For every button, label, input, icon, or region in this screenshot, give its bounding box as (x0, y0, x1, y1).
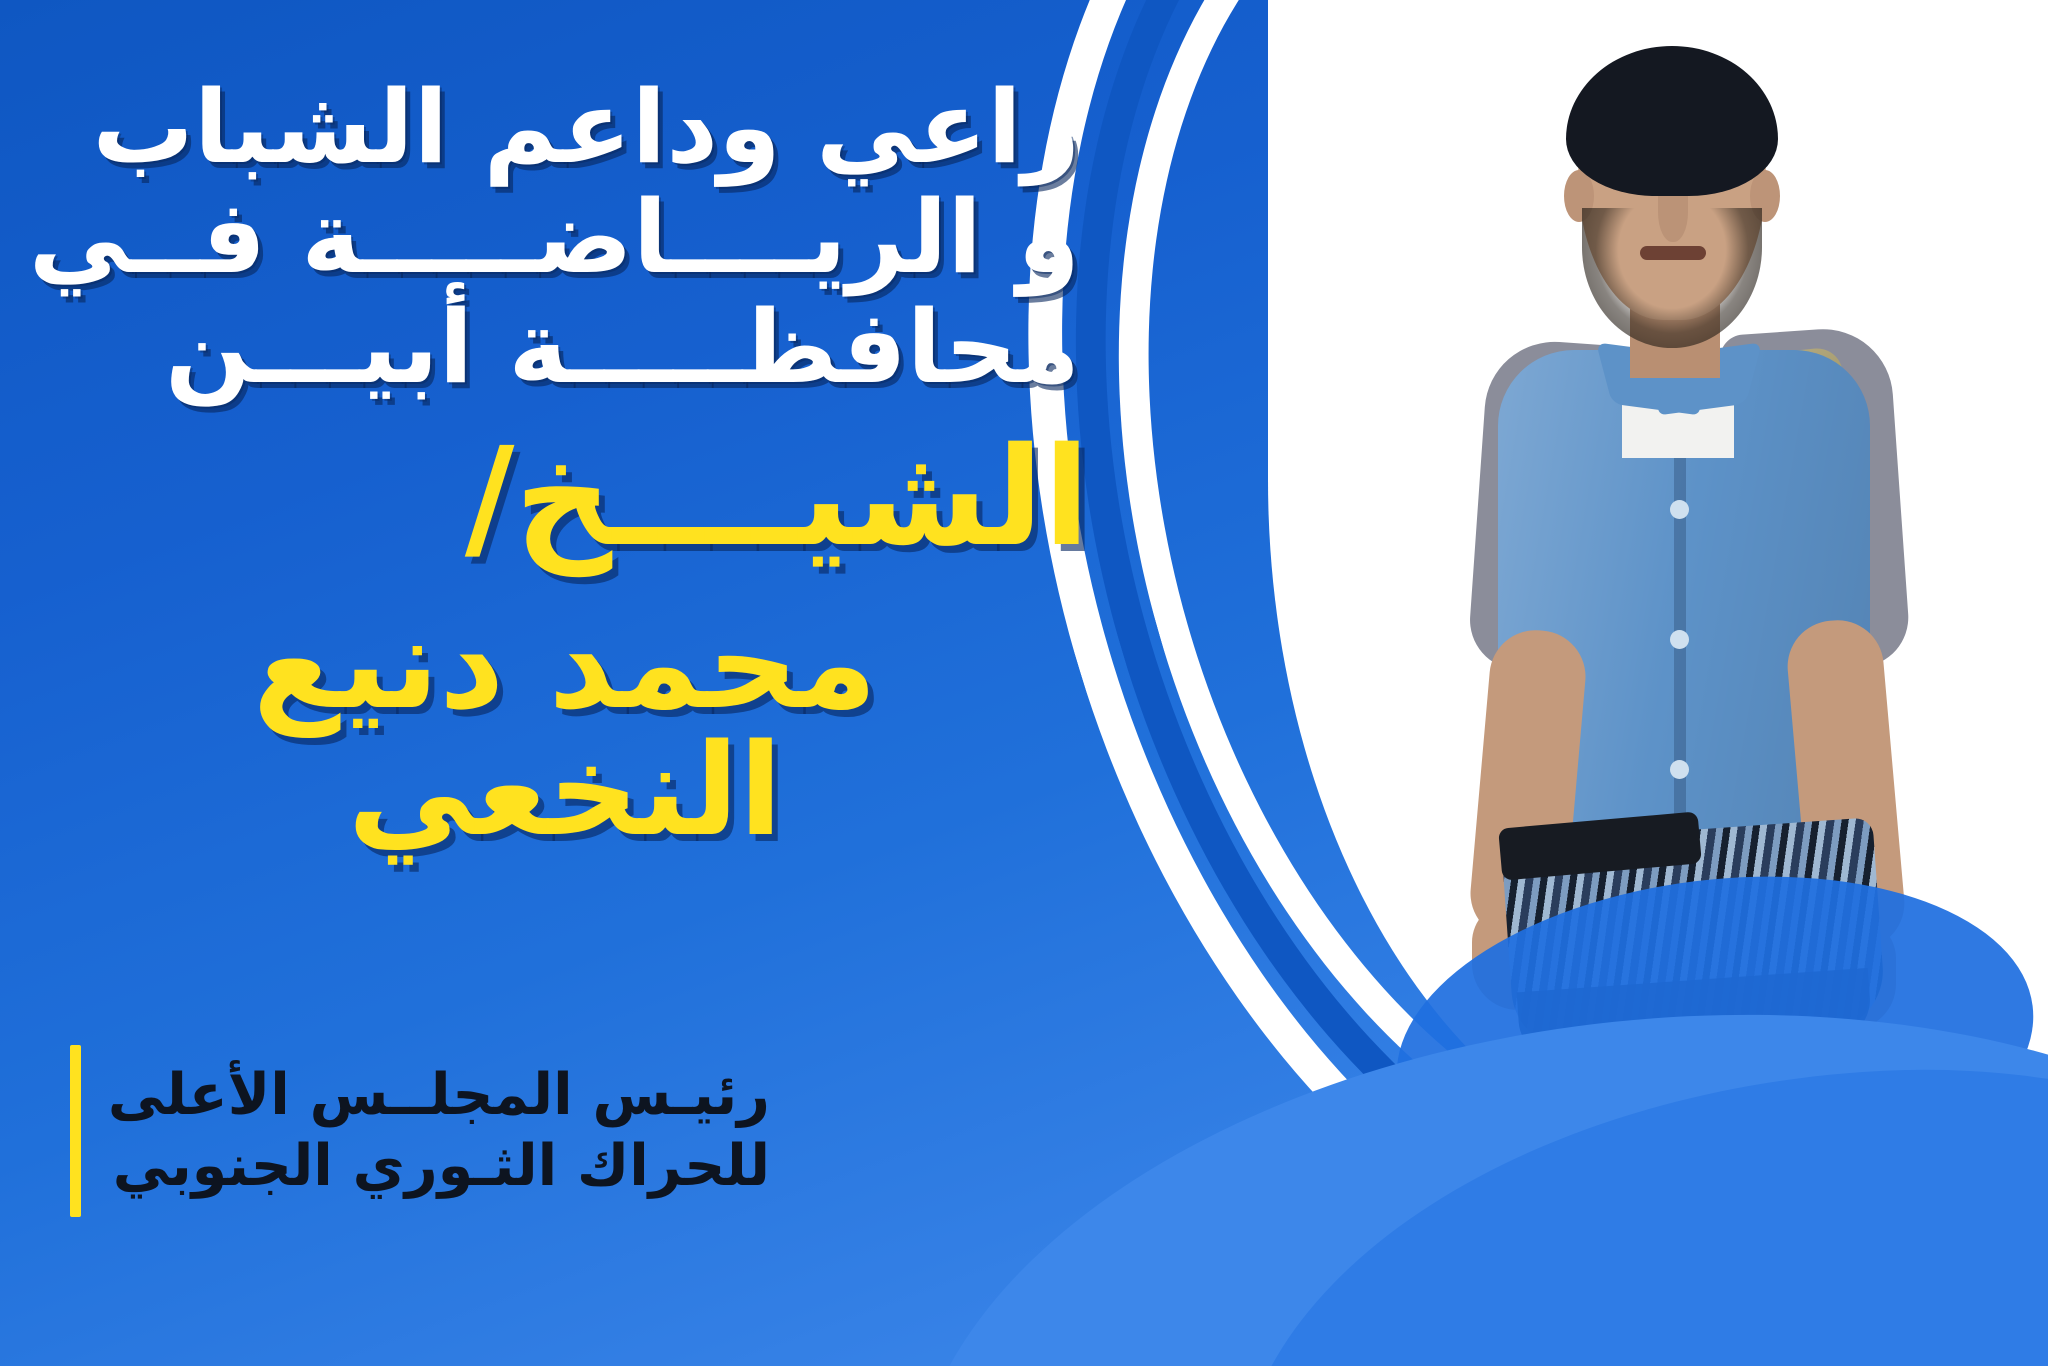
poster-canvas: راعي وداعم الشباب و الريــــاضـــــة فــ… (0, 0, 2048, 1366)
mouth (1640, 246, 1706, 260)
shirt-button (1670, 760, 1689, 779)
headline: راعي وداعم الشباب و الريــــاضـــــة فــ… (70, 72, 1080, 402)
role-line-1: رئيـس المجلــس الأعلى (107, 1060, 770, 1131)
honorific-title: الشيــــخ/ (300, 430, 1090, 566)
role-text: رئيـس المجلــس الأعلى للحراك الثـوري الج… (107, 1060, 770, 1203)
headline-line-3: محافظـــــة أبيـــن (70, 292, 1080, 402)
shirt-button (1670, 500, 1689, 519)
role-block: رئيـس المجلــس الأعلى للحراك الثـوري الج… (70, 1045, 770, 1217)
headline-line-1: راعي وداعم الشباب (70, 72, 1080, 182)
hair (1566, 46, 1778, 196)
role-line-2: للحراك الثـوري الجنوبي (107, 1131, 770, 1202)
headline-line-2: و الريــــاضـــــة فــي (70, 182, 1080, 292)
shirt-button (1670, 630, 1689, 649)
person-name: محمد دنيع النخعي (40, 600, 1090, 854)
vertical-accent-bar-icon (70, 1045, 81, 1217)
